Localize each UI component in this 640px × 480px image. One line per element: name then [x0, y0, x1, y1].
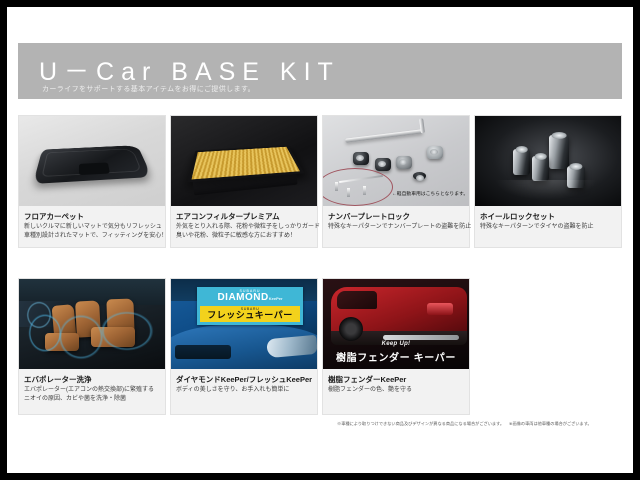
product-description: エバポレーター(エアコンの熱交換部)に繁殖する ニオイの原因、カビや菌を洗浄・除…: [24, 386, 160, 403]
lock-cap: [413, 172, 426, 180]
small-bolt: [347, 188, 350, 197]
desc-line: 車種別設計されたマットで、フィッティングを安心！: [24, 232, 160, 241]
subaru-keeper-banner-photo: SUBARU DIAMONDKeePer SUBARU フレッシュキーパー: [171, 279, 317, 369]
product-title: ホイールロックセット: [480, 212, 616, 221]
banner-headline: 樹脂フェンダー キーパー: [323, 349, 469, 364]
car-wheel: [339, 317, 363, 341]
card-caption: ダイヤモンドKeePer/フレッシュKeePer ボディの美しさを守り、お手入れ…: [171, 369, 317, 414]
banner-headline-text: DIAMOND: [217, 292, 268, 303]
product-description: 新しいクルマに新しいマットで気分もリフレッシュ 車種別設計されたマットで、フィッ…: [24, 223, 160, 240]
small-bolt: [363, 186, 366, 195]
page-sheet: U－Car BASE KIT カーライフをサポートする基本アイテムをお得にご提供…: [7, 7, 633, 473]
banner-headline-small: KeePer: [269, 296, 283, 301]
desc-line: 特殊なキーパターンでタイヤの盗難を防止: [480, 223, 616, 232]
desc-line: 臭いや花粉、微粒子に敏感な方におすすめ！: [176, 232, 312, 241]
reflection-highlight: [495, 180, 597, 200]
allen-key-icon: [345, 129, 423, 142]
product-title: ダイヤモンドKeePer/フレッシュKeePer: [176, 375, 312, 384]
lock-nut: [396, 156, 412, 169]
card-caption: 樹脂フェンダーKeePer 樹脂フェンダーの色、艶を守る: [323, 369, 469, 414]
product-grid-row-2: エバポレーター洗浄 エバポレーター(エアコンの熱交換部)に繁殖する ニオイの原因…: [18, 278, 622, 415]
card-caption: ホイールロックセット 特殊なキーパターンでタイヤの盗難を防止: [475, 206, 621, 247]
wheel-lock-nut: [549, 135, 569, 169]
banner-yellow-block: SUBARU フレッシュキーパー: [200, 306, 300, 323]
small-bolt: [335, 182, 338, 191]
desc-line: 新しいクルマに新しいマットで気分もリフレッシュ: [24, 223, 160, 232]
footer-disclaimer: ※車種により取りつけできない商品及びデザインが異なる商品になる場合がございます。…: [337, 421, 622, 426]
floor-mat-heel-pad: [79, 162, 110, 175]
page-subtitle: カーライフをサポートする基本アイテムをお得にご提供します。: [42, 84, 255, 94]
keeper-banner-label: SUBARU DIAMONDKeePer SUBARU フレッシュキーパー: [197, 287, 303, 325]
page-header-banner: U－Car BASE KIT カーライフをサポートする基本アイテムをお得にご提供…: [18, 43, 622, 99]
desc-line: エバポレーター(エアコンの熱交換部)に繁殖する: [24, 386, 160, 395]
image-annotation: ←軽自動車用はこちらとなります。: [392, 190, 468, 197]
wheel-lock-nut: [513, 149, 530, 175]
desc-line: ニオイの原因、カビや菌を洗浄・除菌: [24, 395, 160, 404]
lock-nut: [353, 152, 369, 165]
product-card-air-filter[interactable]: エアコンフィルタープレミアム 外気をとり入れる際、花粉や微粒子をしっかりガード …: [170, 115, 318, 248]
product-title: フロアカーペット: [24, 212, 160, 221]
air-filter-photo: [171, 116, 317, 206]
screenshot-root: U－Car BASE KIT カーライフをサポートする基本アイテムをお得にご提供…: [0, 0, 640, 480]
lock-bolt: [427, 146, 443, 159]
product-grid-row-1: フロアカーペット 新しいクルマに新しいマットで気分もリフレッシュ 車種別設計され…: [18, 115, 622, 248]
wheel-lock-photo: [475, 116, 621, 206]
wheel-lock-nut: [532, 156, 549, 181]
product-description: 外気をとり入れる際、花粉や微粒子をしっかりガード 臭いや花粉、微粒子に敏感な方に…: [176, 223, 312, 240]
banner-headline: DIAMONDKeePer: [197, 293, 303, 304]
banner-tagline: Keep Up!: [323, 341, 469, 347]
desc-line: 外気をとり入れる際、花粉や微粒子をしっかりガード: [176, 223, 312, 232]
highlight-ellipse: [323, 168, 393, 206]
floor-carpet-photo: [19, 116, 165, 206]
product-description: 特殊なキーパターンでタイヤの盗難を防止: [480, 223, 616, 232]
product-card-number-plate-lock[interactable]: ←軽自動車用はこちらとなります。 ナンバープレートロック 特殊なキーパターンでナ…: [322, 115, 470, 248]
number-plate-lock-photo: ←軽自動車用はこちらとなります。: [323, 116, 469, 206]
product-description: ボディの美しさを守り、お手入れも簡単に: [176, 386, 312, 395]
product-title: エアコンフィルタープレミアム: [176, 212, 312, 221]
card-caption: ナンバープレートロック 特殊なキーパターンでナンバープレートの盗難を防止: [323, 206, 469, 247]
car-rear-window: [337, 291, 377, 309]
airflow-swirl-overlay: [23, 293, 163, 363]
product-description: 特殊なキーパターンでナンバープレートの盗難を防止: [328, 223, 464, 232]
product-card-evaporator-cleaning[interactable]: エバポレーター洗浄 エバポレーター(エアコンの熱交換部)に繁殖する ニオイの原因…: [18, 278, 166, 415]
product-title: エバポレーター洗浄: [24, 375, 160, 384]
desc-line: 樹脂フェンダーの色、艶を守る: [328, 386, 464, 395]
product-card-floor-carpet[interactable]: フロアカーペット 新しいクルマに新しいマットで気分もリフレッシュ 車種別設計され…: [18, 115, 166, 248]
car-interior-airflow-photo: [19, 279, 165, 369]
product-card-resin-fender-keeper[interactable]: Keep Up! 樹脂フェンダー キーパー 樹脂フェンダーKeePer 樹脂フェ…: [322, 278, 470, 415]
disclaimer-line-2: ※画像の車両は他車種の場合がございます。: [509, 421, 592, 426]
disclaimer-line-1: ※車種により取りつけできない商品及びデザインが異なる商品になる場合がございます。: [337, 421, 504, 426]
card-caption: エバポレーター洗浄 エバポレーター(エアコンの熱交換部)に繁殖する ニオイの原因…: [19, 369, 165, 414]
desc-line: 特殊なキーパターンでナンバープレートの盗難を防止: [328, 223, 464, 232]
product-title: 樹脂フェンダーKeePer: [328, 375, 464, 384]
chrome-trim: [383, 335, 459, 340]
product-card-wheel-lock-set[interactable]: ホイールロックセット 特殊なキーパターンでタイヤの盗難を防止: [474, 115, 622, 248]
product-card-diamond-keeper[interactable]: SUBARU DIAMONDKeePer SUBARU フレッシュキーパー ダイ…: [170, 278, 318, 415]
product-title: ナンバープレートロック: [328, 212, 464, 221]
car-tail-light: [427, 303, 453, 315]
resin-fender-keeper-banner-photo: Keep Up! 樹脂フェンダー キーパー: [323, 279, 469, 369]
page-title: U－Car BASE KIT: [39, 52, 340, 88]
lock-nut: [375, 158, 391, 171]
card-caption: フロアカーペット 新しいクルマに新しいマットで気分もリフレッシュ 車種別設計され…: [19, 206, 165, 247]
car-grille: [175, 345, 231, 359]
desc-line: ボディの美しさを守り、お手入れも簡単に: [176, 386, 312, 395]
product-description: 樹脂フェンダーの色、艶を守る: [328, 386, 464, 395]
banner-sub-headline: フレッシュキーパー: [200, 311, 300, 321]
card-caption: エアコンフィルタープレミアム 外気をとり入れる際、花粉や微粒子をしっかりガード …: [171, 206, 317, 247]
